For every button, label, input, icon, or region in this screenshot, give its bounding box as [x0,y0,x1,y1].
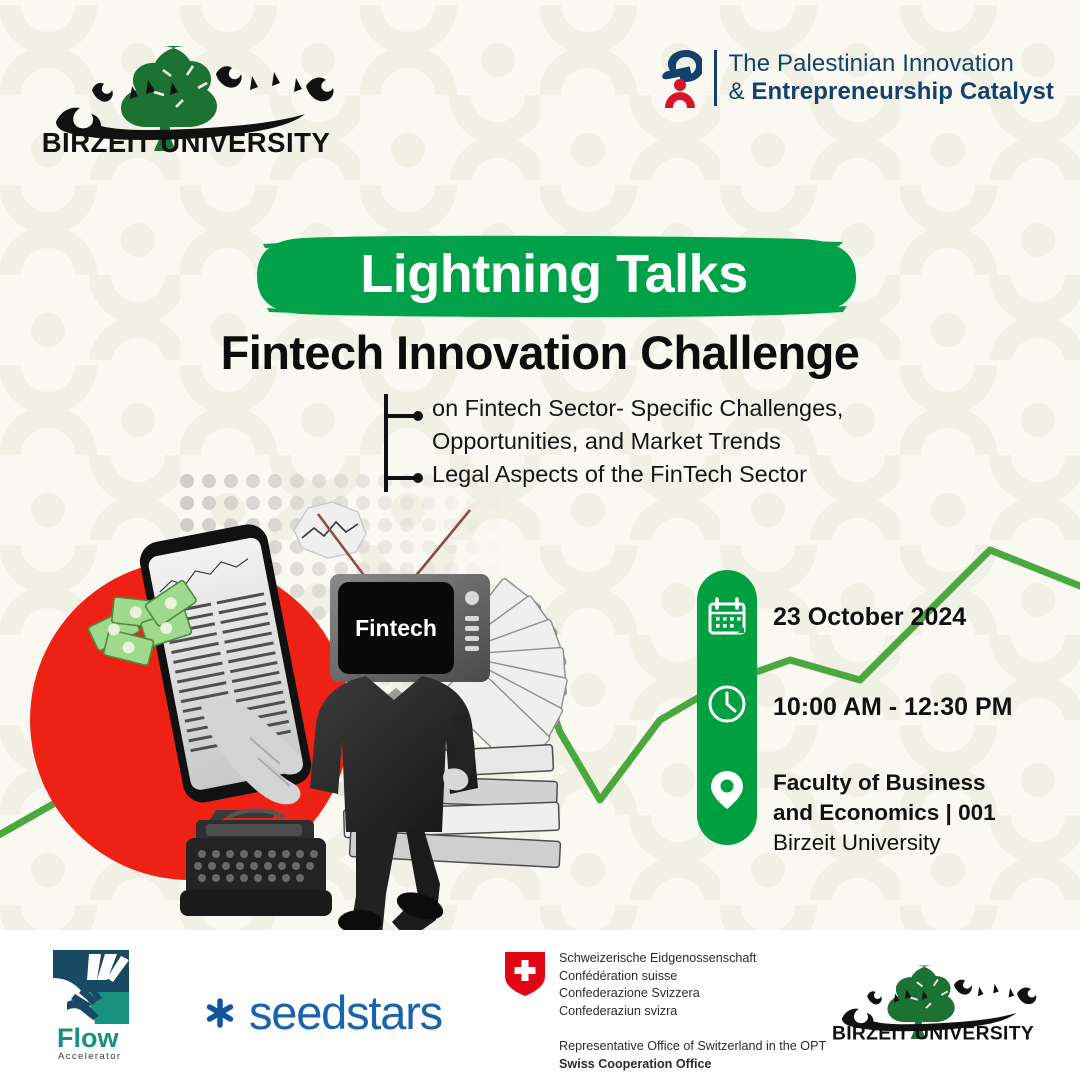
banner-label: Lightning Talks [243,234,865,318]
details-icon-column [697,570,757,845]
topic-line-2: Opportunities, and Market Trends [432,425,843,458]
piec-line-2-bold: Entrepreneurship Catalyst [751,78,1054,105]
piec-monogram-icon [656,46,702,110]
event-date: 23 October 2024 [773,603,966,632]
piec-ampersand: & [729,78,752,105]
swiss-text-block: Schweizerische Eidgenossenschaft Confédé… [559,950,826,1073]
birzeit-university-logo: BIRZEIT UNIVERSITY [36,30,336,155]
typewriter [180,810,332,916]
piec-logo: The Palestinian Innovation & Entrepreneu… [656,46,1054,110]
swiss-lang-rm: Confederaziun svizra [559,1003,826,1021]
swiss-spacer [559,1020,826,1038]
swiss-lang-it: Confederazione Svizzera [559,985,826,1003]
swiss-lang-de: Schweizerische Eidgenossenschaft [559,950,826,968]
topic-line-3: Legal Aspects of the FinTech Sector [432,458,843,491]
birzeit-university-logo-footer: BIRZEIT UNIVERSITY [828,952,1038,1044]
session-topics: on Fintech Sector- Specific Challenges, … [382,392,843,494]
bzu-english-wordmark-footer: BIRZEIT UNIVERSITY [832,1024,1034,1044]
location-pin-icon [706,768,748,810]
fintech-collage-artwork: Fintech [0,470,740,940]
flow-subtitle: Accelerator [58,1051,121,1062]
location-line-3: Birzeit University [773,828,996,858]
clock-icon [706,683,748,725]
event-location: Faculty of Business and Economics | 001 … [773,768,996,858]
topics-text: on Fintech Sector- Specific Challenges, … [428,392,843,494]
lightning-talks-banner: Lightning Talks [243,234,865,318]
piec-line-1: The Palestinian Innovation [729,50,1054,78]
tv-head-businessman: Fintech [310,510,490,940]
tv-screen-label: Fintech [355,615,437,641]
bracket-leader-icon [382,392,428,494]
swiss-lang-fr: Confédération suisse [559,968,826,986]
flow-accelerator-logo: Flow Accelerator [45,948,141,1063]
event-poster: BIRZEIT UNIVERSITY The Palestinian Innov… [0,0,1080,1080]
location-line-1: Faculty of Business [773,768,996,798]
event-time: 10:00 AM - 12:30 PM [773,693,1012,722]
calendar-icon [706,595,748,637]
page-title: Fintech Innovation Challenge [0,325,1080,380]
swiss-shield-icon [505,952,545,996]
swiss-office-line: Representative Office of Switzerland in … [559,1038,826,1056]
piec-wordmark: The Palestinian Innovation & Entrepreneu… [729,50,1054,107]
seedstars-wordmark: seedstars [249,985,442,1040]
seedstars-logo: seedstars [205,985,442,1040]
swiss-cooperation-logo: Schweizerische Eidgenossenschaft Confédé… [505,950,826,1073]
flow-wordmark: Flow [57,1023,119,1053]
piec-line-2: & Entrepreneurship Catalyst [729,78,1054,106]
sponsor-footer: Flow Accelerator seedstars Schweizerisch… [0,930,1080,1080]
bzu-english-wordmark: BIRZEIT UNIVERSITY [42,127,331,155]
location-line-2: and Economics | 001 [773,798,996,828]
swiss-office-bold: Swiss Cooperation Office [559,1056,826,1074]
asterisk-icon [205,998,235,1028]
topic-line-1: on Fintech Sector- Specific Challenges, [432,392,843,425]
piec-divider [714,50,717,106]
